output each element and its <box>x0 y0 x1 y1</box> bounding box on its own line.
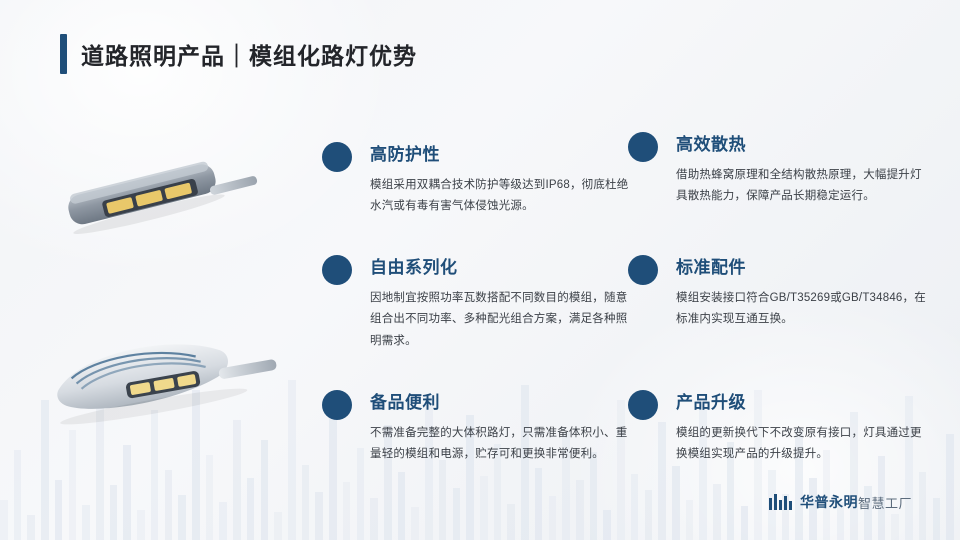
feature-heading: 产品升级 <box>676 388 926 413</box>
feature-item-2: 自由系列化 因地制宜按照功率瓦数搭配不同数目的模组，随意组合出不同功率、多种配光… <box>370 253 630 352</box>
bullet-dot-icon <box>322 142 352 172</box>
brand-suffix: 智慧工厂 <box>858 493 912 512</box>
feature-body: 模组安装接口符合GB/T35269或GB/T34846，在标准内实现互通互换。 <box>676 288 926 331</box>
brand-logo: 华普永明 智慧工厂 <box>768 492 912 512</box>
feature-item-4: 高效散热 借助热蜂窝原理和全结构散热原理，大幅提升灯具散热能力，保障产品长期稳定… <box>676 130 926 208</box>
feature-list: 高防护性 模组采用双耦合技术防护等级达到IP68，彻底杜绝水汽或有毒有害气体侵蚀… <box>0 0 960 540</box>
feature-heading: 备品便利 <box>370 388 630 413</box>
feature-heading: 高效散热 <box>676 130 926 155</box>
bullet-dot-icon <box>628 255 658 285</box>
feature-body: 模组的更新换代下不改变原有接口，灯具通过更换模组实现产品的升级提升。 <box>676 423 926 466</box>
feature-body: 因地制宜按照功率瓦数搭配不同数目的模组，随意组合出不同功率、多种配光组合方案，满… <box>370 288 630 352</box>
feature-body: 不需准备完整的大体积路灯，只需准备体积小、重量轻的模组和电源，贮存可和更换非常便… <box>370 423 630 466</box>
logo-mark-icon <box>768 492 794 512</box>
feature-item-1: 高防护性 模组采用双耦合技术防护等级达到IP68，彻底杜绝水汽或有毒有害气体侵蚀… <box>370 140 630 218</box>
feature-body: 模组采用双耦合技术防护等级达到IP68，彻底杜绝水汽或有毒有害气体侵蚀光源。 <box>370 175 630 218</box>
feature-heading: 自由系列化 <box>370 253 630 278</box>
feature-heading: 标准配件 <box>676 253 926 278</box>
bullet-dot-icon <box>322 390 352 420</box>
feature-heading: 高防护性 <box>370 140 630 165</box>
bullet-dot-icon <box>322 255 352 285</box>
feature-item-3: 备品便利 不需准备完整的大体积路灯，只需准备体积小、重量轻的模组和电源，贮存可和… <box>370 388 630 466</box>
feature-body: 借助热蜂窝原理和全结构散热原理，大幅提升灯具散热能力，保障产品长期稳定运行。 <box>676 165 926 208</box>
bullet-dot-icon <box>628 390 658 420</box>
feature-item-6: 产品升级 模组的更新换代下不改变原有接口，灯具通过更换模组实现产品的升级提升。 <box>676 388 926 466</box>
brand-name: 华普永明 <box>800 492 858 512</box>
feature-item-5: 标准配件 模组安装接口符合GB/T35269或GB/T34846，在标准内实现互… <box>676 253 926 331</box>
bullet-dot-icon <box>628 132 658 162</box>
slide-canvas: 道路照明产品｜模组化路灯优势 <box>0 0 960 540</box>
